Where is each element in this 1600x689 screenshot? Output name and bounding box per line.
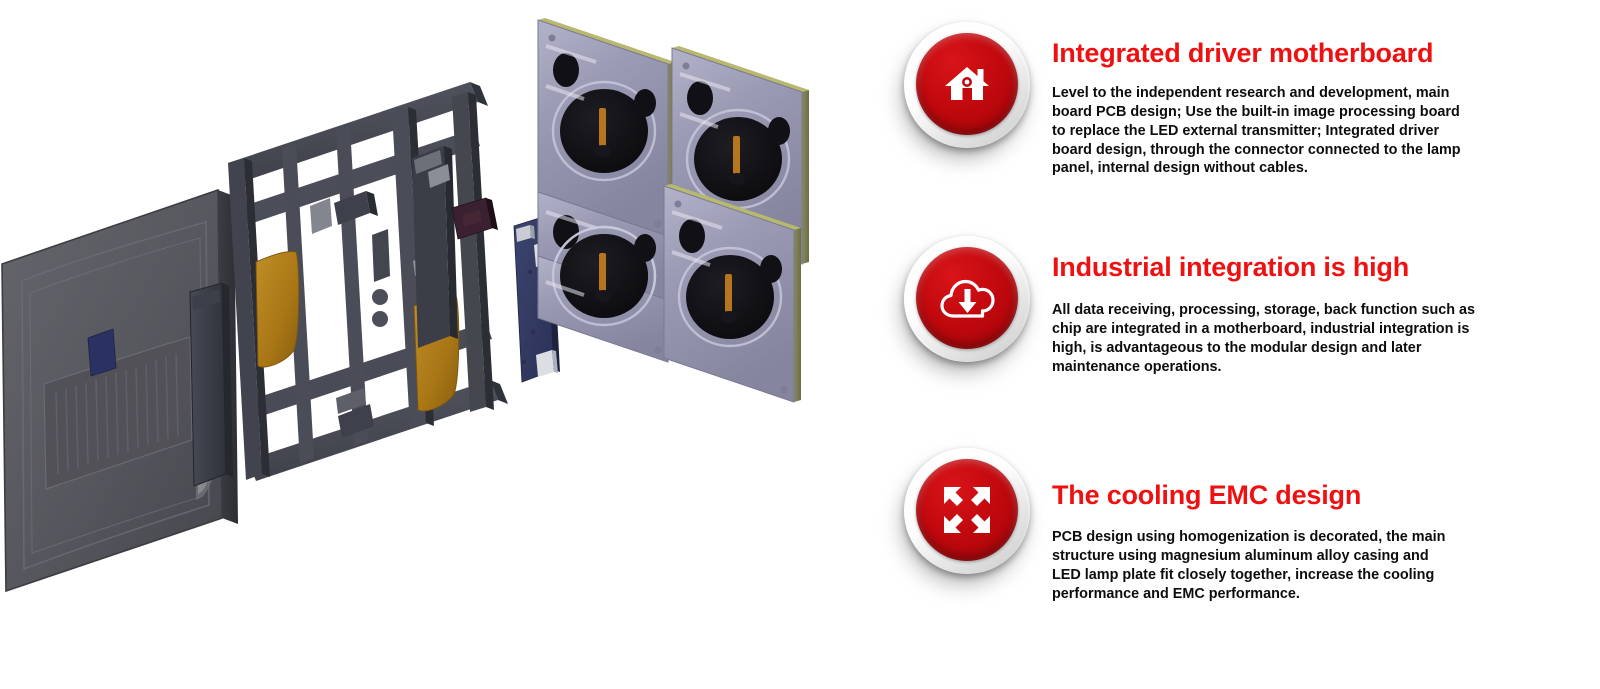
part-chassis-frame: [228, 82, 508, 481]
home-icon-button[interactable]: [890, 14, 1040, 164]
button-disc: [916, 459, 1018, 561]
feature-body: All data receiving, processing, storage,…: [1052, 301, 1600, 376]
feature-item-the-cooling-emc-design: The cooling EMC design PCB design using …: [860, 440, 1600, 603]
feature-text: Integrated driver motherboard Level to t…: [1040, 14, 1600, 178]
cloud-download-icon-button[interactable]: [890, 228, 1040, 378]
expand-arrows-icon-button[interactable]: [890, 440, 1040, 590]
feature-title: Integrated driver motherboard: [1052, 38, 1600, 69]
feature-title: The cooling EMC design: [1052, 480, 1600, 511]
button-disc: [916, 33, 1018, 135]
feature-item-industrial-integration-is-high: Industrial integration is high All data …: [860, 228, 1600, 378]
feature-text: Industrial integration is high All data …: [1040, 228, 1600, 376]
button-disc: [916, 247, 1018, 349]
exploded-cad-illustration: [0, 0, 860, 689]
part-side-rail-left: [190, 283, 233, 486]
feature-item-integrated-driver-motherboard: Integrated driver motherboard Level to t…: [860, 14, 1600, 178]
home-icon: [941, 58, 993, 110]
cloud-download-icon: [939, 275, 995, 321]
feature-body: PCB design using homogenization is decor…: [1052, 528, 1600, 603]
feature-body: Level to the independent research and de…: [1052, 84, 1600, 178]
feature-text: The cooling EMC design PCB design using …: [1040, 440, 1600, 603]
expand-arrows-icon: [940, 483, 994, 537]
feature-title: Industrial integration is high: [1052, 252, 1600, 283]
feature-list: Integrated driver motherboard Level to t…: [860, 0, 1600, 689]
